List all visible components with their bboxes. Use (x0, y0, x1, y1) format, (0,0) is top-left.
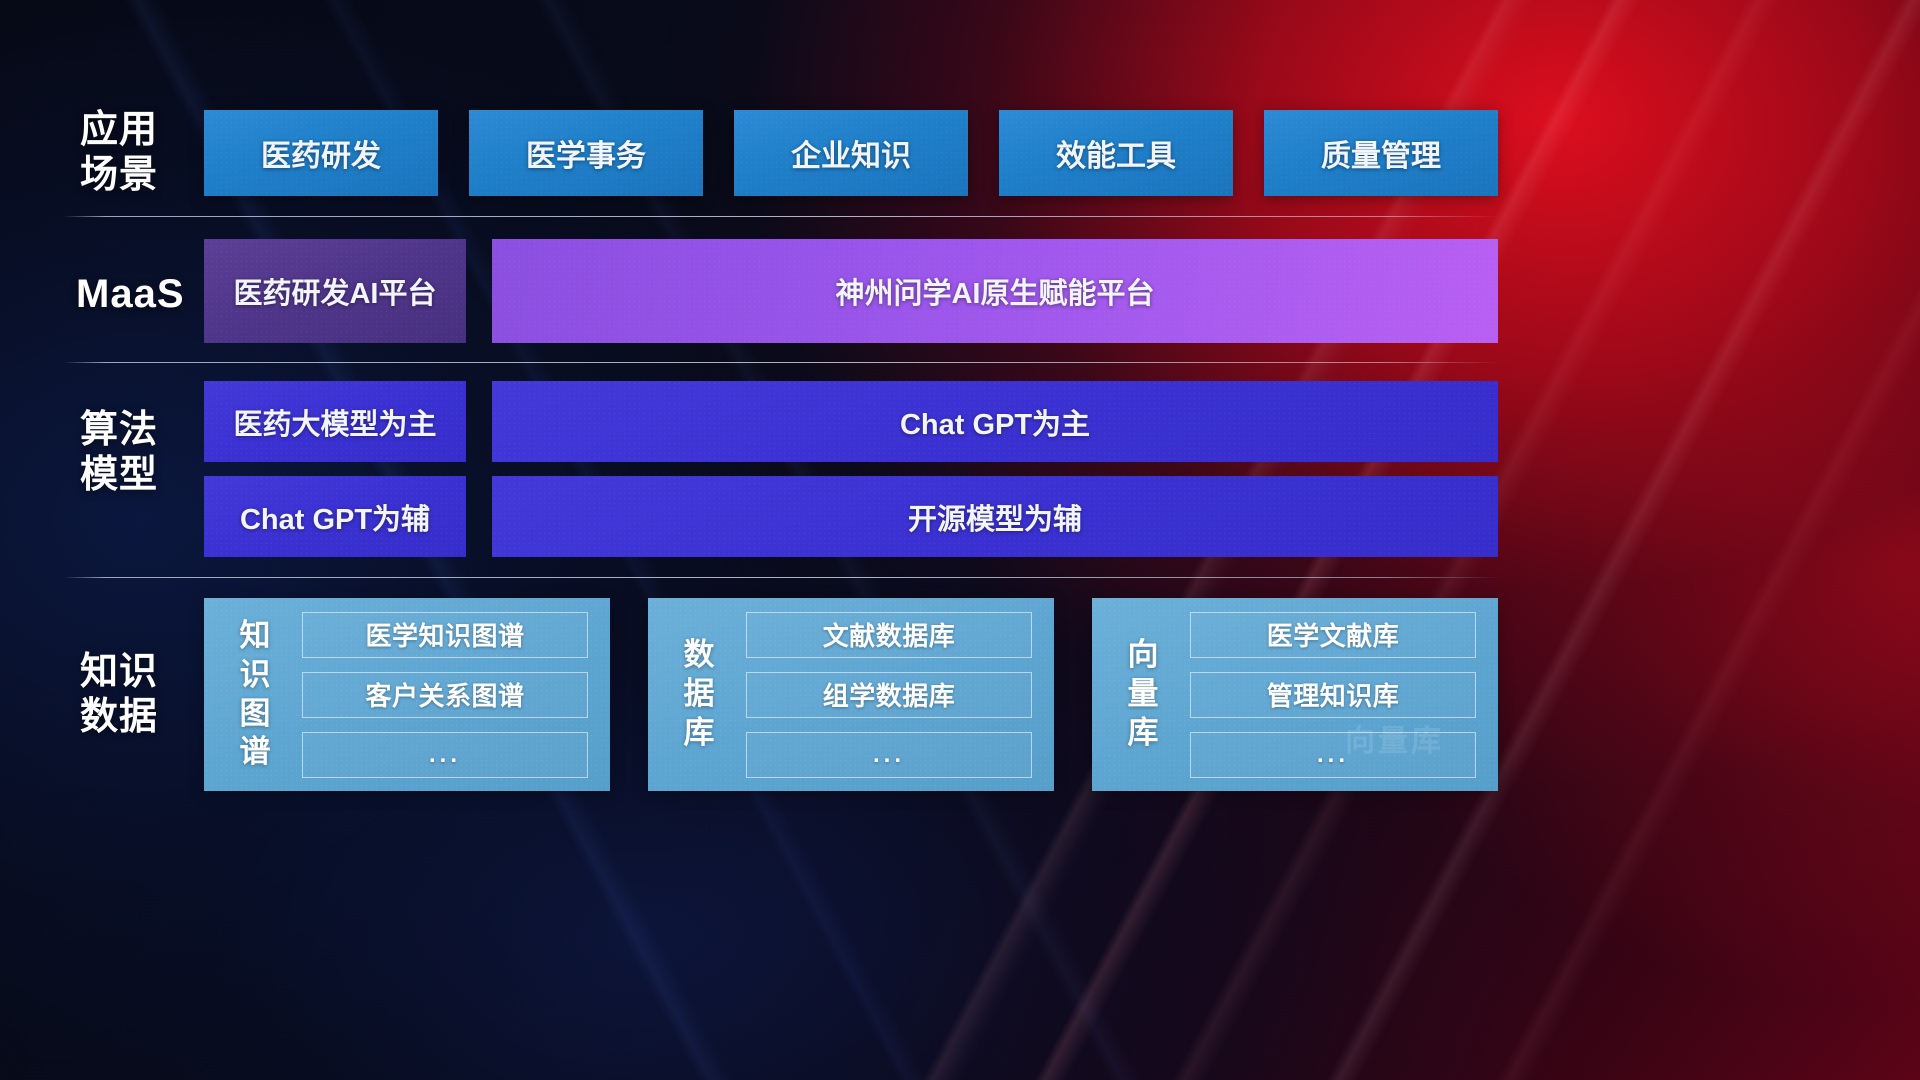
row-label-knowledge-data: 知识 数据 (80, 650, 210, 740)
row-label-line1: 知识 (80, 650, 210, 695)
algo-cell-left-1[interactable]: 医药大模型为主 (204, 381, 466, 462)
row-label-line2: 模型 (80, 453, 210, 498)
knowledge-card-2[interactable]: 数据库 文献数据库 组学数据库 ... (648, 598, 1054, 791)
algo-cell-right-2[interactable]: 开源模型为辅 (492, 476, 1498, 557)
app-cell-1-label: 医药研发 (261, 131, 381, 175)
knowledge-card-3-item-3[interactable]: ... (1190, 732, 1476, 778)
app-cell-5[interactable]: 质量管理 (1264, 110, 1498, 196)
algo-cell-right-2-label: 开源模型为辅 (908, 496, 1082, 538)
maas-platform-shenzhou[interactable]: 神州问学AI原生赋能平台 (492, 239, 1498, 343)
knowledge-card-2-item-1[interactable]: 文献数据库 (746, 612, 1032, 658)
app-cell-3[interactable]: 企业知识 (734, 110, 968, 196)
maas-platform-medicine-label: 医药研发AI平台 (233, 270, 436, 312)
knowledge-card-1-item-1[interactable]: 医学知识图谱 (302, 612, 588, 658)
diagram-canvas: 应用 场景 医药研发 医学事务 企业知识 效能工具 质量管理 MaaS 医药研发… (0, 0, 1920, 1080)
app-cell-4-label: 效能工具 (1056, 131, 1176, 175)
knowledge-card-1-item-2[interactable]: 客户关系图谱 (302, 672, 588, 718)
knowledge-card-3-item-1[interactable]: 医学文献库 (1190, 612, 1476, 658)
knowledge-card-2-vertical-label: 数据库 (666, 636, 732, 752)
row-label-algorithm-model: 算法 模型 (80, 408, 210, 498)
app-cell-2-label: 医学事务 (526, 131, 646, 175)
app-cell-5-label: 质量管理 (1321, 131, 1441, 175)
maas-platform-shenzhou-label: 神州问学AI原生赋能平台 (835, 270, 1154, 312)
algo-cell-right-1-label: Chat GPT为主 (900, 401, 1090, 443)
knowledge-card-1[interactable]: 知识图谱 医学知识图谱 客户关系图谱 ... (204, 598, 610, 791)
row-label-application-scenarios: 应用 场景 (80, 108, 210, 198)
algo-cell-left-2[interactable]: Chat GPT为辅 (204, 476, 466, 557)
row-separator-3 (63, 577, 1500, 578)
algo-cell-left-2-label: Chat GPT为辅 (240, 496, 430, 538)
knowledge-card-2-item-2[interactable]: 组学数据库 (746, 672, 1032, 718)
row-label-line2: 数据 (80, 695, 210, 740)
app-cell-3-label: 企业知识 (791, 131, 911, 175)
knowledge-card-2-item-3[interactable]: ... (746, 732, 1032, 778)
knowledge-card-3-item-2[interactable]: 管理知识库 (1190, 672, 1476, 718)
knowledge-card-1-vertical-label: 知识图谱 (222, 617, 288, 772)
knowledge-card-1-item-3[interactable]: ... (302, 732, 588, 778)
knowledge-card-3-vertical-label: 向量库 (1110, 636, 1176, 752)
row-separator-1 (63, 216, 1500, 217)
maas-platform-medicine[interactable]: 医药研发AI平台 (204, 239, 466, 343)
app-cell-2[interactable]: 医学事务 (469, 110, 703, 196)
algo-cell-left-1-label: 医药大模型为主 (233, 401, 436, 443)
app-cell-4[interactable]: 效能工具 (999, 110, 1233, 196)
knowledge-card-3-items: 医学文献库 管理知识库 ... (1190, 612, 1476, 778)
row-label-line1: 算法 (80, 408, 210, 453)
app-cell-1[interactable]: 医药研发 (204, 110, 438, 196)
knowledge-card-3[interactable]: 向量库 医学文献库 管理知识库 ... (1092, 598, 1498, 791)
knowledge-card-1-items: 医学知识图谱 客户关系图谱 ... (302, 612, 588, 778)
row-label-line2: 场景 (80, 153, 210, 198)
algo-cell-right-1[interactable]: Chat GPT为主 (492, 381, 1498, 462)
row-separator-2 (63, 362, 1500, 363)
knowledge-card-2-items: 文献数据库 组学数据库 ... (746, 612, 1032, 778)
row-label-line1: 应用 (80, 108, 210, 153)
